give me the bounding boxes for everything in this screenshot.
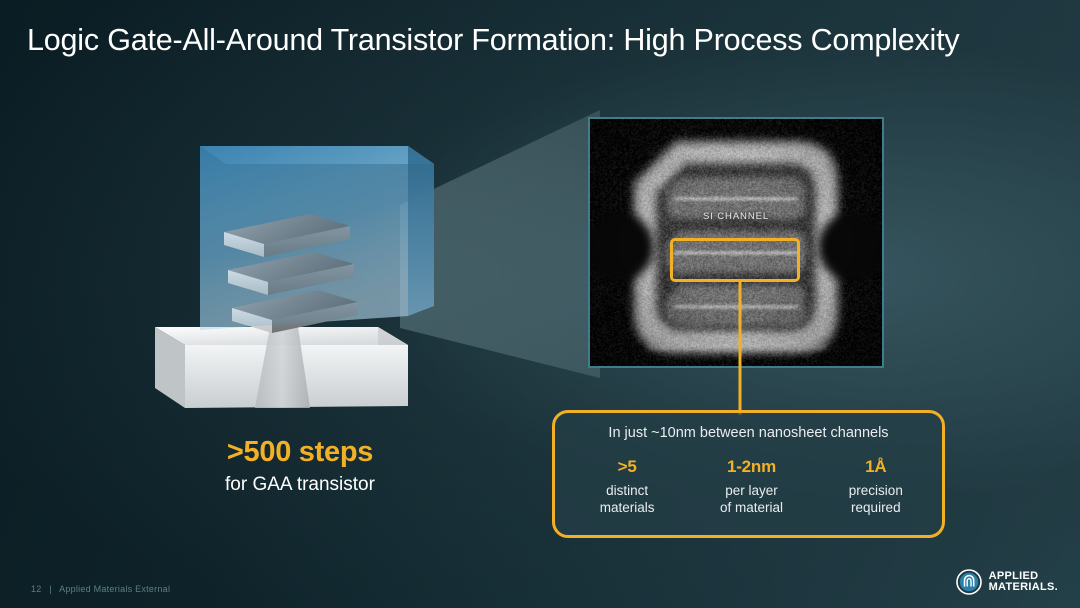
page-number: 12 [31, 584, 42, 594]
steps-stat-block: >500 steps for GAA transistor [150, 435, 450, 499]
stat-value: 1Å [814, 455, 938, 479]
stat-value: >5 [565, 455, 689, 479]
callout-header: In just ~10nm between nanosheet channels [555, 425, 942, 441]
gate-front-overlay [200, 146, 408, 330]
stat-description: per layer of material [689, 482, 813, 516]
callout-stat-layer-thickness: 1-2nm per layer of material [689, 455, 813, 516]
footer-classification: Applied Materials External [59, 584, 170, 594]
stat-value: 1-2nm [689, 455, 813, 479]
nanosheet-highlight-box [670, 238, 800, 282]
footer-separator: | [49, 584, 52, 594]
logo-wordmark: APPLIED MATERIALS. [989, 571, 1058, 593]
callout-stat-precision: 1Å precision required [814, 455, 938, 516]
steps-label: for GAA transistor [150, 471, 450, 499]
nanosheet-callout-box: In just ~10nm between nanosheet channels… [552, 410, 945, 538]
gaa-transistor-diagram [120, 130, 470, 430]
callout-stat-row: >5 distinct materials 1-2nm per layer of… [565, 455, 938, 516]
applied-materials-logo: APPLIED MATERIALS. [956, 569, 1058, 595]
steps-value: >500 steps [150, 435, 450, 469]
page-title: Logic Gate-All-Around Transistor Formati… [27, 20, 1047, 60]
footer: 12 | Applied Materials External [31, 584, 170, 594]
stat-description: precision required [814, 482, 938, 516]
applied-materials-logo-icon [956, 569, 982, 595]
callout-stat-materials: >5 distinct materials [565, 455, 689, 516]
stat-description: distinct materials [565, 482, 689, 516]
logo-line-2: MATERIALS. [989, 582, 1058, 593]
slide-canvas: Logic Gate-All-Around Transistor Formati… [0, 0, 1080, 608]
tem-micrograph: SI CHANNEL [588, 117, 884, 368]
